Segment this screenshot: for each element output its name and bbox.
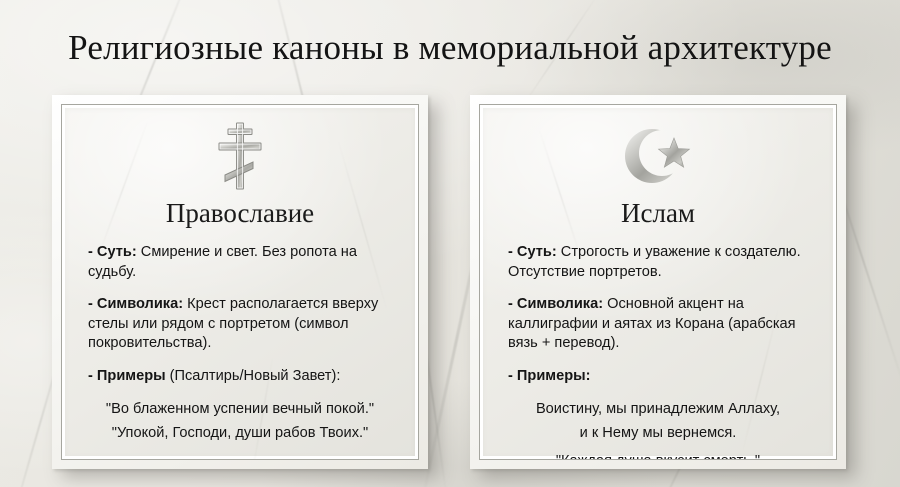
bullet-item: - Символика: Основной акцент на каллигра…	[500, 295, 816, 354]
bullet-label: - Примеры	[88, 368, 166, 384]
bullet-item: - Примеры:	[500, 367, 816, 387]
quote-list-orthodoxy: "Во блаженном успении вечный покой." "Уп…	[80, 399, 400, 443]
quote-item: и к Нему мы вернемся.	[498, 423, 818, 443]
panel-islam-face: Ислам - Суть: Строгость и уважение к соз…	[479, 104, 837, 460]
bullet-text: (Псалтирь/Новый Завет):	[166, 368, 341, 384]
orthodox-cross-icon	[80, 119, 400, 193]
panel-orthodoxy[interactable]: Православие - Суть: Смирение и свет. Без…	[52, 95, 428, 469]
crescent-star-icon	[498, 119, 818, 193]
panel-orthodoxy-face: Православие - Суть: Смирение и свет. Без…	[61, 104, 419, 460]
slide-canvas: Религиозные каноны в мемориальной архите…	[0, 0, 900, 487]
bullet-label: - Символика:	[508, 296, 603, 312]
bullet-label: - Символика:	[88, 296, 183, 312]
panel-islam[interactable]: Ислам - Суть: Строгость и уважение к соз…	[470, 95, 846, 469]
page-title: Религиозные каноны в мемориальной архите…	[0, 27, 900, 69]
bullet-label: - Примеры:	[508, 368, 590, 384]
bullet-list-orthodoxy: - Суть: Смирение и свет. Без ропота на с…	[80, 243, 400, 386]
bullet-item: - Символика: Крест располагается вверху …	[82, 295, 398, 354]
quote-item: "Во блаженном успении вечный покой."	[80, 399, 400, 419]
bullet-item: - Суть: Строгость и уважение к создателю…	[500, 243, 816, 282]
bullet-label: - Суть:	[88, 244, 137, 260]
panel-title-islam: Ислам	[498, 197, 818, 229]
quote-item: Воистину, мы принадлежим Аллаху,	[498, 399, 818, 419]
bullet-list-islam: - Суть: Строгость и уважение к создателю…	[498, 243, 818, 386]
bullet-item: - Суть: Смирение и свет. Без ропота на с…	[82, 243, 398, 282]
quote-item: "Упокой, Господи, души рабов Твоих."	[80, 423, 400, 443]
bullet-label: - Суть:	[508, 244, 557, 260]
bullet-item: - Примеры (Псалтирь/Новый Завет):	[82, 367, 398, 387]
quote-item: "Каждая душа вкусит смерть."	[498, 451, 818, 460]
quote-list-islam: Воистину, мы принадлежим Аллаху, и к Нем…	[498, 399, 818, 460]
panel-title-orthodoxy: Православие	[80, 197, 400, 229]
